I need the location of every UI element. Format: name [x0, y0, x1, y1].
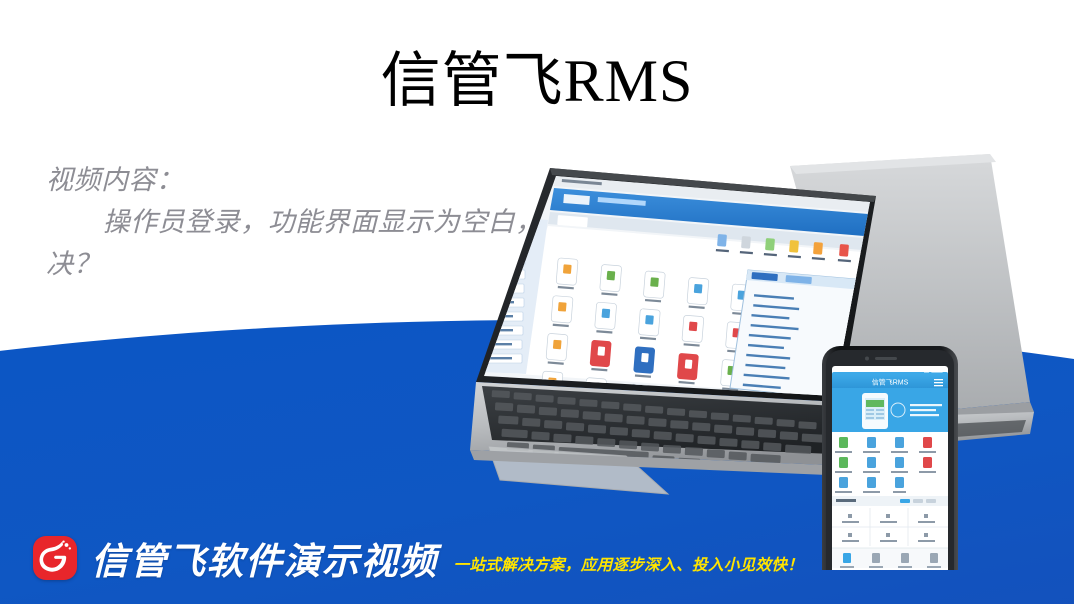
slide-title: 信管飞RMS: [0, 48, 1074, 114]
bottom-banner: 信管飞软件演示视频 一站式解决方案，应用逐步深入、投入小见效快！: [0, 512, 1074, 604]
feiyu-bird-logo-icon: [33, 536, 77, 580]
slide-canvas: 信管飞RMS 视频内容： 操作员登录，功能界面显示为空白，如何解决？: [0, 0, 1074, 604]
banner-title: 信管飞软件演示视频: [91, 531, 438, 585]
banner-tagline: 一站式解决方案，应用逐步深入、投入小见效快！: [454, 553, 804, 575]
devices-illustration: 信管飞RMS: [430, 150, 1074, 570]
svg-text:信管飞RMS: 信管飞RMS: [872, 378, 909, 387]
